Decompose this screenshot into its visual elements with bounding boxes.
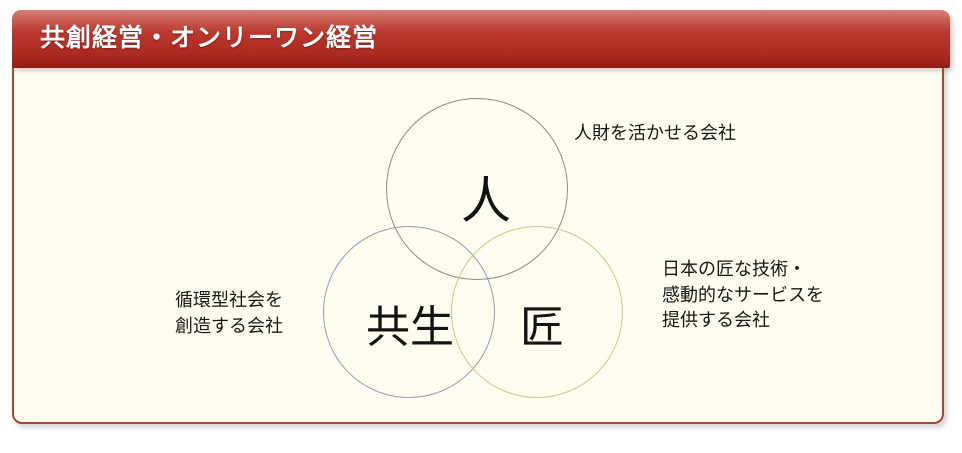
annotation-takumi-line3: 提供する会社 — [662, 308, 824, 334]
annotation-takumi: 日本の匠な技術・ 感動的なサービスを 提供する会社 — [662, 257, 824, 334]
annotation-takumi-line2: 感動的なサービスを — [662, 283, 824, 309]
header-bar: 共創経営・オンリーワン経営 — [12, 10, 950, 68]
venn-label-hito: 人 — [426, 176, 546, 226]
content-panel: 人 共生 匠 人財を活かせる会社 日本の匠な技術・ 感動的なサービスを 提供する… — [12, 34, 944, 424]
annotation-takumi-line1: 日本の匠な技術・ — [662, 257, 824, 283]
annotation-kyosei: 循環型社会を 創造する会社 — [144, 288, 314, 339]
venn-label-kyosei: 共生 — [336, 306, 484, 350]
venn-label-takumi: 匠 — [496, 306, 588, 350]
annotation-hito: 人財を活かせる会社 — [574, 121, 736, 147]
annotation-hito-line1: 人財を活かせる会社 — [574, 121, 736, 147]
slide-canvas: 人 共生 匠 人財を活かせる会社 日本の匠な技術・ 感動的なサービスを 提供する… — [0, 0, 962, 453]
venn-diagram: 人 共生 匠 人財を活かせる会社 日本の匠な技術・ 感動的なサービスを 提供する… — [14, 36, 946, 422]
page-title: 共創経営・オンリーワン経営 — [40, 10, 378, 68]
annotation-kyosei-line1: 循環型社会を — [144, 288, 314, 314]
annotation-kyosei-line2: 創造する会社 — [144, 314, 314, 340]
